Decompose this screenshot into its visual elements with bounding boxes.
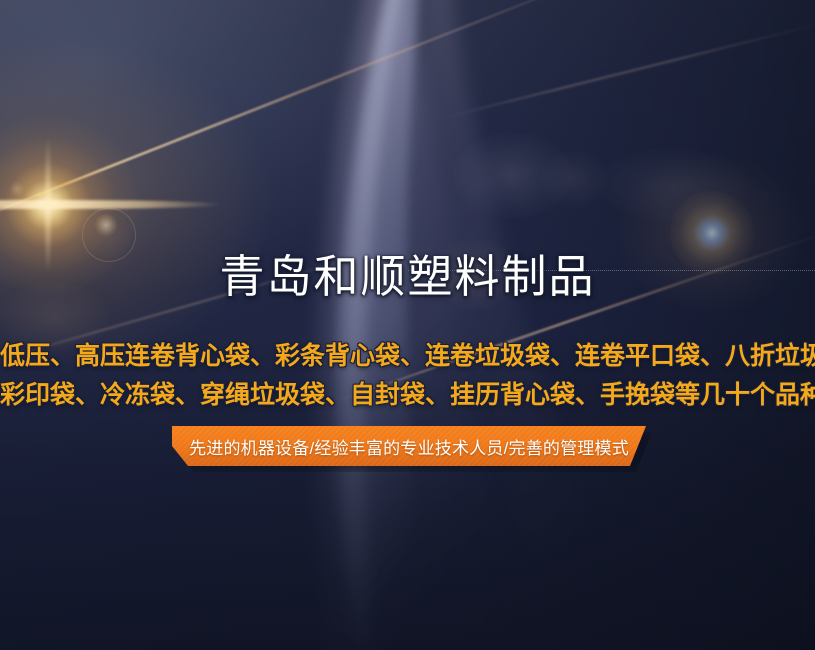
promo-banner: 青岛和顺塑料制品 低压、高压连卷背心袋、彩条背心袋、连卷垃圾袋、连卷平口袋、八折… (0, 0, 815, 650)
product-list-line-1: 低压、高压连卷背心袋、彩条背心袋、连卷垃圾袋、连卷平口袋、八折垃圾袋、 (0, 337, 815, 375)
tagline-text: 先进的机器设备/经验丰富的专业技术人员/完善的管理模式 (172, 426, 646, 466)
product-list-line-2: 彩印袋、冷冻袋、穿绳垃圾袋、自封袋、挂历背心袋、手挽袋等几十个品种 (0, 376, 815, 414)
page-title: 青岛和顺塑料制品 (0, 249, 815, 305)
tagline-ribbon: 先进的机器设备/经验丰富的专业技术人员/完善的管理模式 (172, 426, 646, 466)
title-row: 青岛和顺塑料制品 (0, 249, 815, 305)
